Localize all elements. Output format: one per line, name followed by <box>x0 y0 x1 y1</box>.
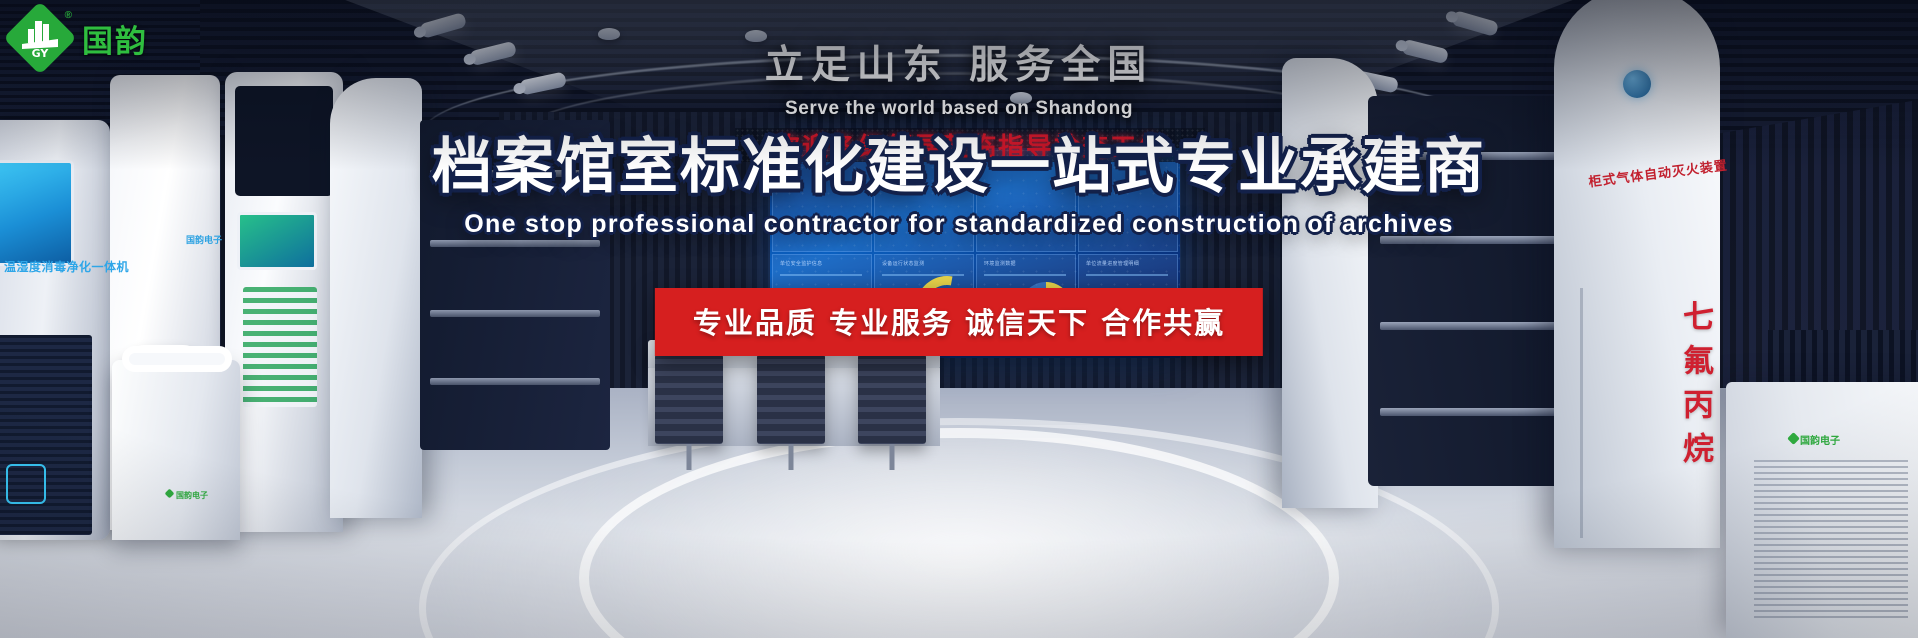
purifier-caption: 温湿度消毒净化一体机 <box>4 258 129 275</box>
heptafluoropropane-wall-text: 七氟丙烷 <box>1673 300 1718 476</box>
hero-headline-en: One stop professional contractor for sta… <box>0 210 1918 239</box>
guoyun-diamond-logo-icon: ® GY <box>10 8 70 68</box>
slogan-ribbon: 专业品质 专业服务 诚信天下 合作共赢 <box>655 288 1263 356</box>
hero-kicker-en: Serve the world based on Shandong <box>0 98 1918 120</box>
brand-logo-text: 国韵 <box>82 16 148 61</box>
text-overlay: 欢迎各级领导莅临指导检查工作 ® GY 国韵 立足山东 服务全国 Serve t… <box>0 0 1918 638</box>
slogan-ribbon-text: 专业品质 专业服务 诚信天下 合作共赢 <box>693 300 1225 342</box>
device-brand-dehumidifier: 国韵电子 <box>176 490 208 501</box>
device-brand-right: 国韵电子 <box>1800 432 1840 447</box>
logo-building-glyph-icon: GY <box>18 16 62 60</box>
hero-kicker-cn: 立足山东 服务全国 <box>0 44 1918 89</box>
svg-text:GY: GY <box>32 47 50 60</box>
hero-headline-cn: 档案馆室标准化建设一站式专业承建商 <box>0 136 1918 200</box>
hero-banner: 单位安全监护信息 设备运行状态监测 环境监测数据 单位流量进度管理明细 33.3… <box>0 0 1918 638</box>
brand-logo[interactable]: ® GY 国韵 <box>10 8 148 68</box>
hero-text-block: 立足山东 服务全国 Serve the world based on Shand… <box>0 44 1918 239</box>
registered-trademark-icon: ® <box>65 10 72 21</box>
